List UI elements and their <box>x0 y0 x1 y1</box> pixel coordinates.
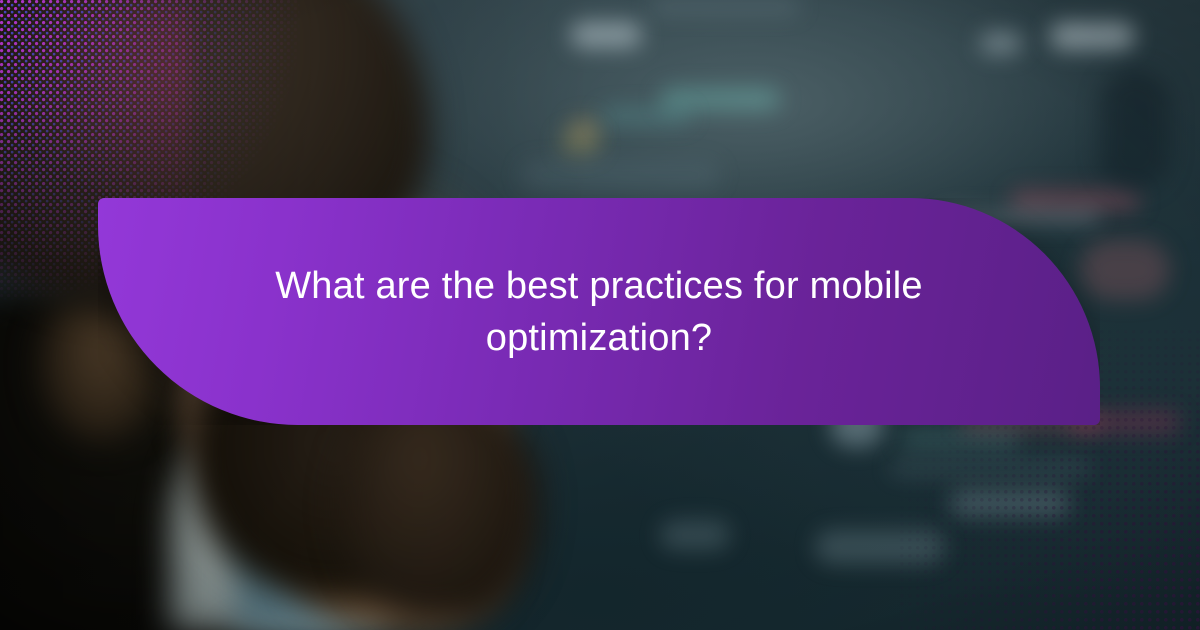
page-title: What are the best practices for mobile o… <box>109 260 1089 364</box>
corner-glow <box>0 0 190 220</box>
headline-banner: What are the best practices for mobile o… <box>98 198 1100 425</box>
social-card: What are the best practices for mobile o… <box>0 0 1200 630</box>
